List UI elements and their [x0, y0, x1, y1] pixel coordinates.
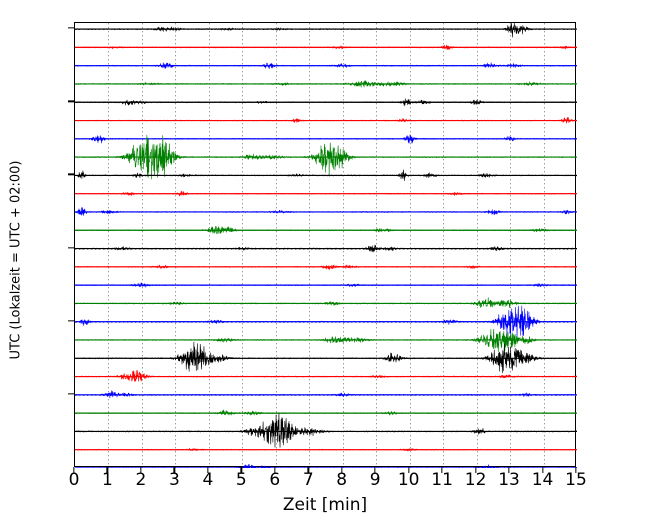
- x-tick-label-1: 1: [102, 470, 113, 490]
- x-tick-mark-10: [408, 467, 409, 473]
- x-tick-label-9: 9: [370, 470, 381, 490]
- x-tick-mark-3: [174, 467, 175, 473]
- x-tick-mark-8: [341, 467, 342, 473]
- x-tick-mark-4: [207, 467, 208, 473]
- x-tick-label-13: 13: [498, 470, 520, 490]
- x-tick-label-3: 3: [169, 470, 180, 490]
- x-tick-mark-5: [241, 467, 242, 473]
- x-tick-label-0: 0: [69, 470, 80, 490]
- x-tick-mark-14: [542, 467, 543, 473]
- x-tick-mark-15: [575, 467, 576, 473]
- plot-area: [74, 22, 576, 467]
- y-axis-label: UTC (Lokalzeit = UTC + 02:00): [9, 161, 24, 360]
- x-tick-mark-6: [274, 467, 275, 473]
- x-tick-mark-12: [475, 467, 476, 473]
- x-tick-mark-9: [375, 467, 376, 473]
- x-tick-label-11: 11: [431, 470, 453, 490]
- x-tick-label-4: 4: [202, 470, 213, 490]
- x-tick-label-14: 14: [532, 470, 554, 490]
- x-tick-label-8: 8: [336, 470, 347, 490]
- x-tick-mark-0: [73, 467, 74, 473]
- y-axis-label-wrapper: UTC (Lokalzeit = UTC + 02:00): [16, 0, 17, 520]
- x-tick-mark-2: [140, 467, 141, 473]
- x-tick-label-15: 15: [565, 470, 587, 490]
- x-tick-mark-11: [441, 467, 442, 473]
- seismogram-figure: UTC (Lokalzeit = UTC + 02:00) 18:0019:00…: [0, 0, 650, 520]
- x-tick-label-7: 7: [303, 470, 314, 490]
- x-axis-label: Zeit [min]: [283, 495, 367, 515]
- x-tick-mark-7: [308, 467, 309, 473]
- x-tick-mark-1: [107, 467, 108, 473]
- x-tick-label-10: 10: [398, 470, 420, 490]
- x-tick-label-5: 5: [236, 470, 247, 490]
- x-tick-label-12: 12: [465, 470, 487, 490]
- x-tick-label-2: 2: [136, 470, 147, 490]
- x-tick-mark-13: [508, 467, 509, 473]
- x-tick-label-6: 6: [269, 470, 280, 490]
- seismic-traces-canvas: [75, 23, 577, 468]
